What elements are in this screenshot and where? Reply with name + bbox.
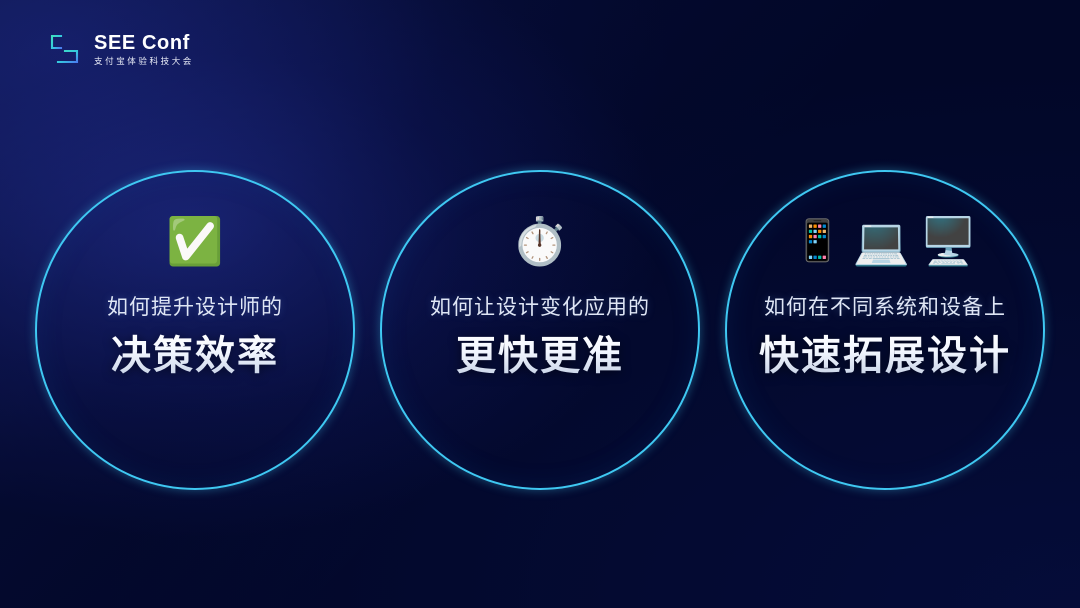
circle-3-highlight: 快速拓展设计 xyxy=(725,333,1045,379)
circle-3-icon-row: 📱 💻 🖥️ xyxy=(793,210,977,272)
white-check-mark-icon: ✅ xyxy=(166,218,223,264)
circle-card-faster-more-accurate: ⏱️ 如何让设计变化应用的 更快更准 xyxy=(380,170,700,490)
circle-2-icon-row: ⏱️ xyxy=(511,210,568,272)
circle-group: ✅ 如何提升设计师的 决策效率 ⏱️ 如何让设计变化应用的 更快更准 📱 💻 🖥… xyxy=(0,170,1080,490)
logo-text-group: SEE Conf 支付宝体验科技大会 xyxy=(94,33,194,66)
circle-2-highlight: 更快更准 xyxy=(380,333,700,379)
circle-1-icon-row: ✅ xyxy=(166,210,223,272)
see-conf-logo-mark xyxy=(48,32,82,66)
desktop-computer-icon: 🖥️ xyxy=(920,218,977,264)
circle-1-highlight: 决策效率 xyxy=(35,333,355,379)
see-conf-logo: SEE Conf 支付宝体验科技大会 xyxy=(48,32,194,66)
circle-1-text-block: 如何提升设计师的 决策效率 xyxy=(35,294,355,379)
circle-card-cross-platform-scaling: 📱 💻 🖥️ 如何在不同系统和设备上 快速拓展设计 xyxy=(725,170,1045,490)
circle-2-question: 如何让设计变化应用的 xyxy=(380,294,700,321)
circle-2-text-block: 如何让设计变化应用的 更快更准 xyxy=(380,294,700,379)
logo-title: SEE Conf xyxy=(94,33,194,53)
presentation-slide: SEE Conf 支付宝体验科技大会 ✅ 如何提升设计师的 决策效率 ⏱️ 如何… xyxy=(0,0,1080,608)
mobile-phone-icon: 📱 xyxy=(793,221,843,261)
logo-subtitle: 支付宝体验科技大会 xyxy=(94,57,194,66)
laptop-icon: 💻 xyxy=(853,218,910,264)
circle-3-question: 如何在不同系统和设备上 xyxy=(725,294,1045,321)
circle-1-question: 如何提升设计师的 xyxy=(35,294,355,321)
circle-3-text-block: 如何在不同系统和设备上 快速拓展设计 xyxy=(725,294,1045,379)
stopwatch-icon: ⏱️ xyxy=(511,218,568,264)
circle-card-decision-efficiency: ✅ 如何提升设计师的 决策效率 xyxy=(35,170,355,490)
